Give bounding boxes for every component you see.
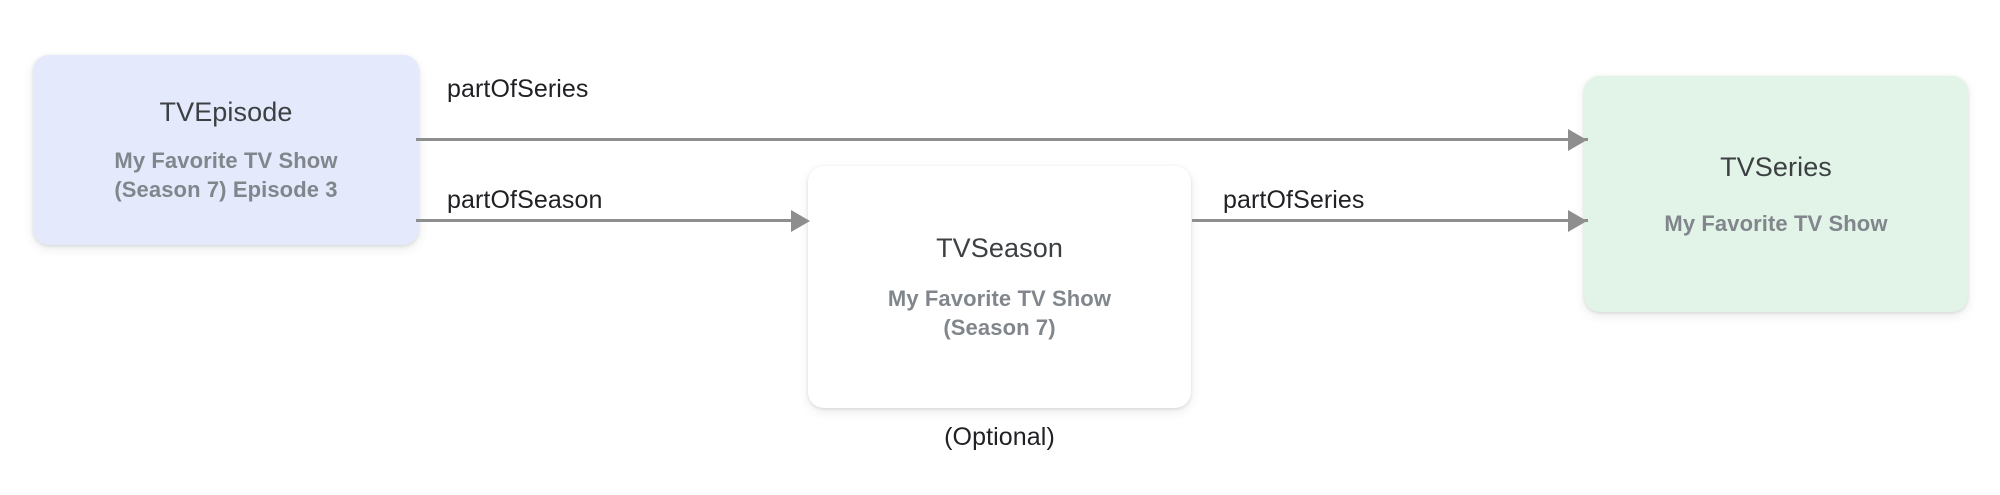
node-tvseason-title: TVSeason: [936, 232, 1063, 264]
node-tvseason[interactable]: TVSeason My Favorite TV Show (Season 7): [808, 166, 1191, 408]
node-tvseries-subtitle: My Favorite TV Show: [1664, 209, 1887, 238]
node-tvepisode-title: TVEpisode: [160, 96, 293, 128]
edge-label-episode-to-series: partOfSeries: [447, 74, 589, 104]
arrow-right-icon-episode-to-series: [1568, 129, 1587, 151]
edge-label-episode-to-season: partOfSeason: [447, 185, 602, 215]
edge-season-to-series-line: [1192, 219, 1588, 222]
edge-episode-to-season-line: [416, 219, 794, 222]
node-tvepisode-subtitle: My Favorite TV Show (Season 7) Episode 3: [114, 146, 337, 204]
node-tvseason-optional-caption: (Optional): [808, 421, 1191, 453]
node-tvseries-title: TVSeries: [1720, 151, 1832, 183]
node-tvseason-subtitle: My Favorite TV Show (Season 7): [888, 284, 1111, 342]
arrow-right-icon-season-to-series: [1568, 210, 1587, 232]
node-tvseries[interactable]: TVSeries My Favorite TV Show: [1584, 76, 1968, 312]
arrow-right-icon-episode-to-season: [791, 210, 810, 232]
diagram-canvas: TVEpisode My Favorite TV Show (Season 7)…: [0, 0, 2000, 495]
node-tvepisode[interactable]: TVEpisode My Favorite TV Show (Season 7)…: [33, 55, 419, 245]
edge-episode-to-series-line: [416, 138, 1588, 141]
edge-label-season-to-series: partOfSeries: [1223, 185, 1365, 215]
